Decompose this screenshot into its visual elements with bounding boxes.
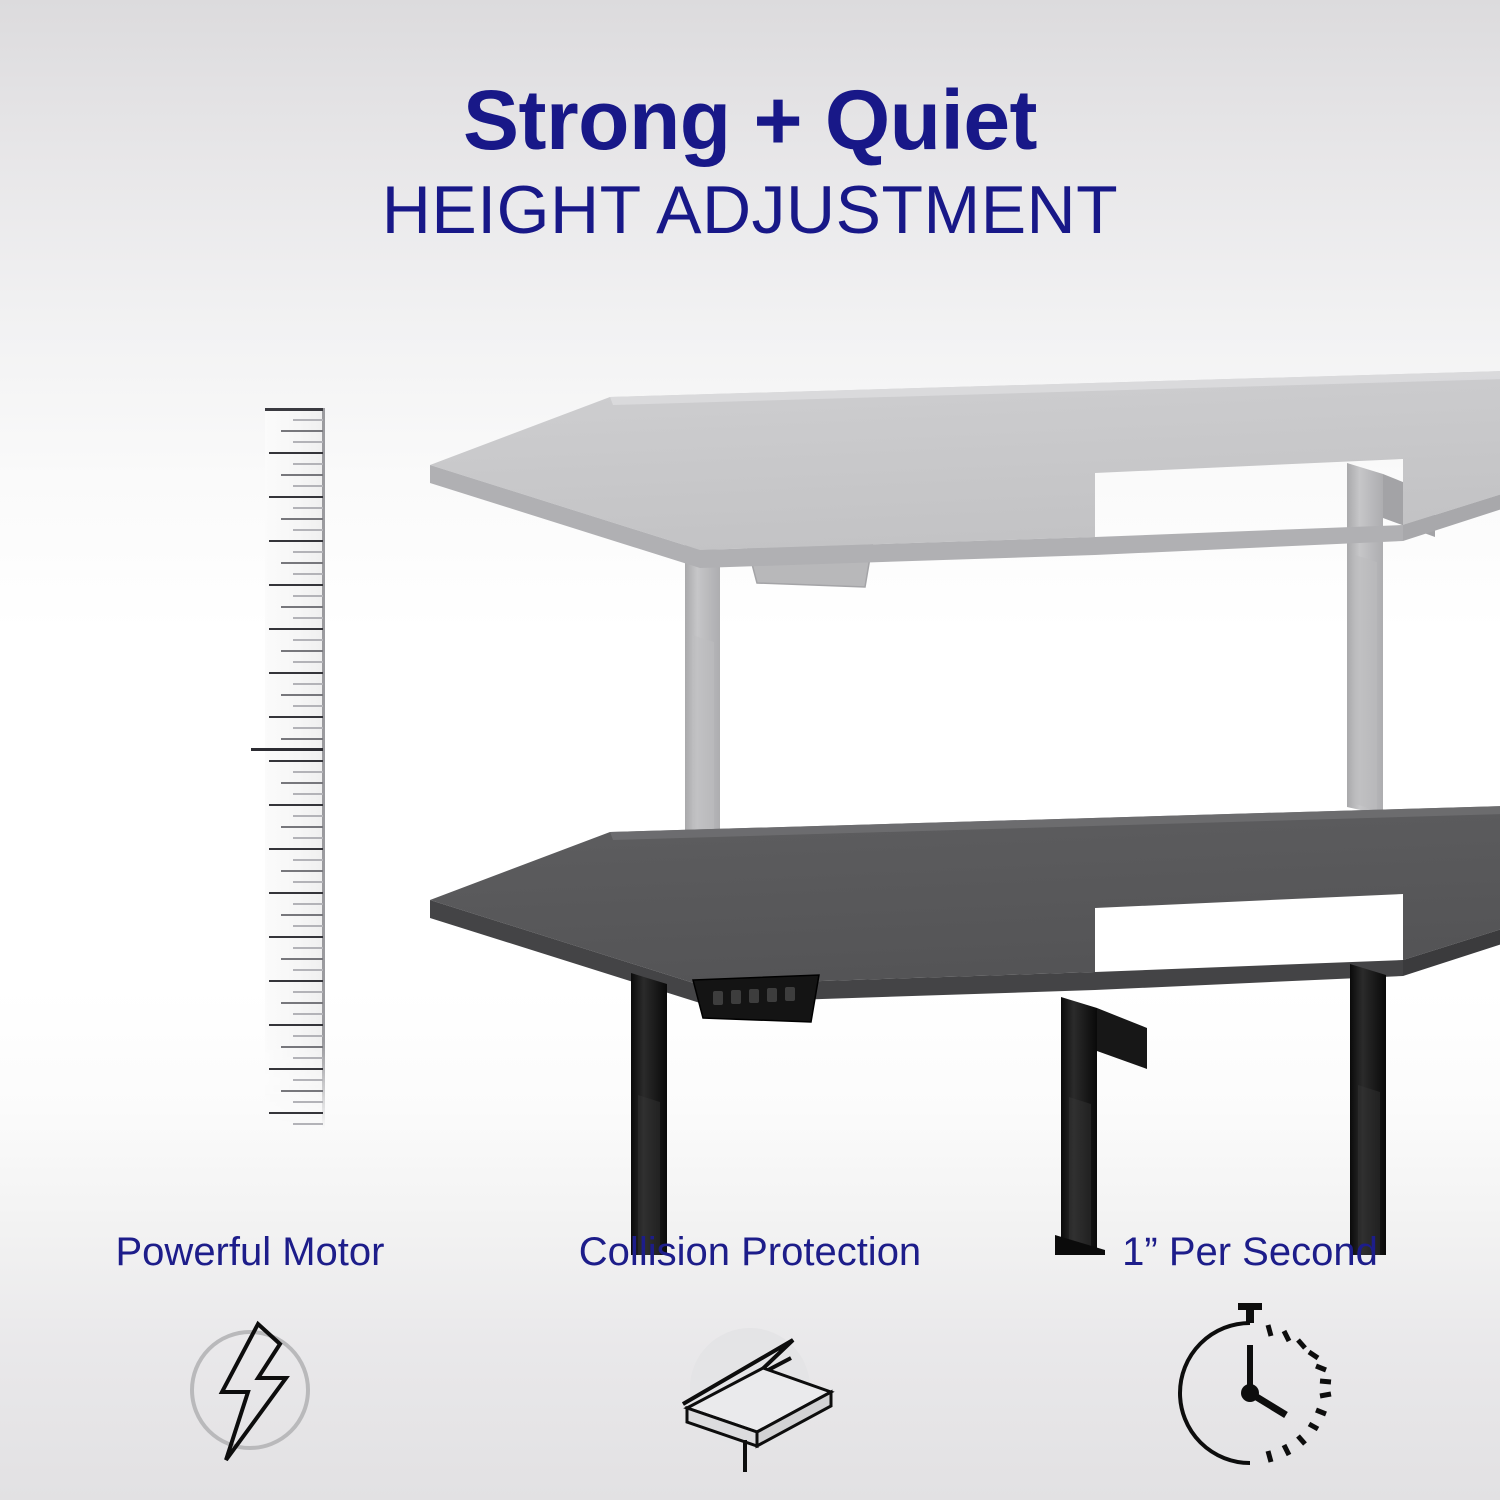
ruler-tick [293, 1035, 323, 1037]
ruler-tick [281, 430, 323, 432]
ruler-tick [293, 947, 323, 949]
ruler-tick [269, 496, 323, 498]
ruler-tick [269, 936, 323, 938]
page-title: Strong + Quiet [0, 78, 1500, 162]
ruler-tick [293, 1123, 323, 1125]
ruler-tick [281, 738, 323, 740]
header-block: Strong + Quiet HEIGHT ADJUSTMENT [0, 78, 1500, 244]
stopwatch-icon [1150, 1293, 1350, 1483]
lightning-bolt-icon [160, 1300, 340, 1475]
ruler-tick [265, 408, 323, 411]
infographic-canvas: Strong + Quiet HEIGHT ADJUSTMENT 46.8” 2… [0, 0, 1500, 1500]
ruler-tick [281, 1002, 323, 1004]
ruler-tick [293, 529, 323, 531]
ruler-tick [293, 463, 323, 465]
lowered-left-leg [527, 973, 717, 1255]
ruler-tick [269, 672, 323, 674]
feature-powerful-motor: Powerful Motor [0, 1232, 500, 1475]
ruler-tick [269, 1068, 323, 1070]
ruler-spine [322, 408, 325, 1128]
ruler-tick [293, 661, 323, 663]
feature-icon-slot-1 [500, 1300, 1000, 1475]
ruler-tick [269, 892, 323, 894]
ruler-tick [293, 771, 323, 773]
ruler-tick [293, 837, 323, 839]
ruler-tick [293, 595, 323, 597]
ruler-tick [293, 925, 323, 927]
ruler-tick [293, 683, 323, 685]
ruler-tick [293, 419, 323, 421]
page-subtitle: HEIGHT ADJUSTMENT [0, 176, 1500, 244]
ruler-tick-min-height-marker [251, 748, 323, 751]
desk-lowered-position [430, 806, 1500, 1255]
ruler-tick [293, 1057, 323, 1059]
ruler-tick [269, 452, 323, 454]
lowered-corner-leg [1055, 997, 1147, 1255]
ruler-tick [293, 815, 323, 817]
ruler-tick [269, 584, 323, 586]
feature-label-speed: 1” Per Second [1000, 1232, 1500, 1272]
feature-icon-slot-2 [1000, 1300, 1500, 1475]
ruler-tick [281, 474, 323, 476]
ruler-tick [269, 1024, 323, 1026]
ruler-tick [269, 760, 323, 762]
ruler-tick [293, 793, 323, 795]
ruler-tick [281, 606, 323, 608]
ruler-tick [293, 617, 323, 619]
ruler-tick [269, 848, 323, 850]
ruler-tick [293, 881, 323, 883]
ruler-tick [269, 716, 323, 718]
desktop-collision-icon [645, 1300, 855, 1475]
ruler-tick [269, 540, 323, 542]
ruler-body [265, 408, 325, 1128]
ruler-tick [281, 650, 323, 652]
lowered-right-leg [1247, 964, 1437, 1255]
ruler-tick [293, 639, 323, 641]
ruler-tick [281, 914, 323, 916]
ruler-tick [293, 991, 323, 993]
ruler-tick [281, 1046, 323, 1048]
ruler-tick [281, 562, 323, 564]
feature-collision-protection: Collision Protection [500, 1232, 1000, 1475]
ruler-tick [293, 859, 323, 861]
feature-label-collision-protection: Collision Protection [500, 1232, 1000, 1272]
feature-speed: 1” Per Second [1000, 1232, 1500, 1475]
ruler-tick [293, 1079, 323, 1081]
height-ruler [265, 408, 325, 1128]
ruler-tick [293, 485, 323, 487]
ruler-tick [269, 980, 323, 982]
ruler-tick [281, 870, 323, 872]
ruler-tick [269, 804, 323, 806]
ruler-tick [281, 958, 323, 960]
ruler-tick [293, 1013, 323, 1015]
ruler-tick [269, 628, 323, 630]
ruler-tick [281, 1090, 323, 1092]
ruler-tick [293, 969, 323, 971]
ruler-tick [281, 826, 323, 828]
ruler-tick [293, 507, 323, 509]
feature-row: Powerful Motor Collision Protection [0, 1232, 1500, 1475]
ruler-tick [281, 694, 323, 696]
ruler-tick [269, 1112, 323, 1114]
ruler-tick [293, 727, 323, 729]
ruler-tick [293, 1101, 323, 1103]
ruler-tick [293, 551, 323, 553]
feature-label-powerful-motor: Powerful Motor [0, 1232, 500, 1272]
feature-icon-slot-0 [0, 1300, 500, 1475]
desk-illustration [395, 355, 1500, 1255]
ruler-tick [293, 903, 323, 905]
ruler-tick [293, 441, 323, 443]
ruler-tick [281, 782, 323, 784]
stopwatch-ticks [1268, 1325, 1331, 1462]
ruler-tick [281, 518, 323, 520]
ruler-tick [293, 573, 323, 575]
ruler-tick [293, 705, 323, 707]
